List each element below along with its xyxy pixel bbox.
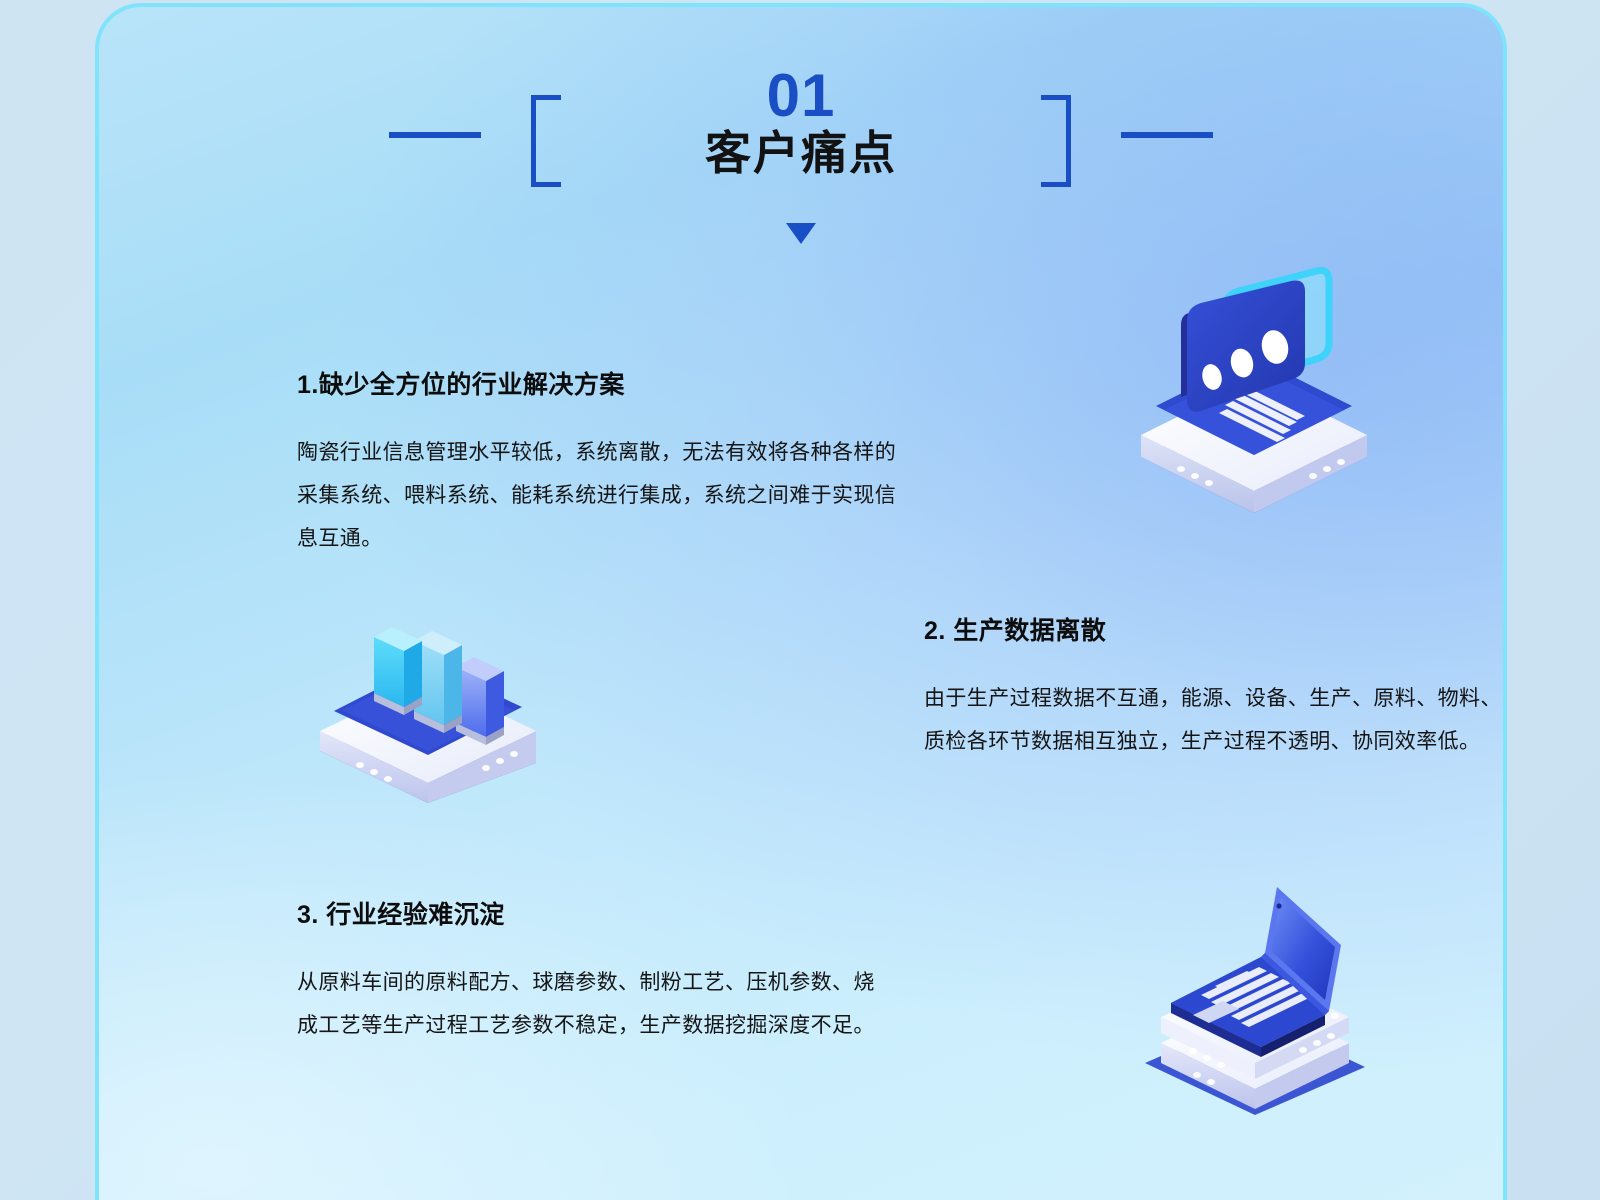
section-header: 01 客户痛点: [99, 65, 1503, 255]
pain-point-block-2: 2. 生产数据离散 由于生产过程数据不互通，能源、设备、生产、原料、物料、质检各…: [924, 611, 1507, 763]
pain-point-block-3: 3. 行业经验难沉淀 从原料车间的原料配方、球磨参数、制粉工艺、压机参数、烧成工…: [297, 895, 887, 1047]
laptop-platform-illustration: [1131, 875, 1381, 1120]
pain-point-3-title: 3. 行业经验难沉淀: [297, 895, 887, 931]
chat-document-platform-illustration: [1129, 265, 1379, 515]
pain-point-block-1: 1.缺少全方位的行业解决方案 陶瓷行业信息管理水平较低，系统离散，无法有效将各种…: [297, 365, 897, 560]
header-center: 01 客户痛点: [636, 65, 966, 191]
header-bracket-left-icon: [531, 95, 561, 187]
bar-3: [456, 657, 504, 745]
pain-point-2-title: 2. 生产数据离散: [924, 611, 1507, 647]
pain-point-1-title: 1.缺少全方位的行业解决方案: [297, 365, 897, 401]
pain-point-2-body: 由于生产过程数据不互通，能源、设备、生产、原料、物料、质检各环节数据相互独立，生…: [924, 677, 1507, 763]
bar-1: [374, 627, 422, 715]
down-triangle-icon: [786, 223, 816, 244]
content-card: 01 客户痛点 1.缺少全方位的行业解决方案 陶瓷行业信息管理水平较低，系统离散…: [95, 3, 1507, 1200]
header-dash-left: [389, 132, 481, 138]
page-title: 客户痛点: [705, 127, 897, 179]
bar-chart-platform-illustration: [304, 607, 554, 807]
section-number: 01: [767, 65, 836, 127]
header-bracket-right-icon: [1041, 95, 1071, 187]
pain-point-1-body: 陶瓷行业信息管理水平较低，系统离散，无法有效将各种各样的采集系统、喂料系统、能耗…: [297, 431, 897, 560]
pain-point-3-body: 从原料车间的原料配方、球磨参数、制粉工艺、压机参数、烧成工艺等生产过程工艺参数不…: [297, 961, 887, 1047]
header-dash-right: [1121, 132, 1213, 138]
